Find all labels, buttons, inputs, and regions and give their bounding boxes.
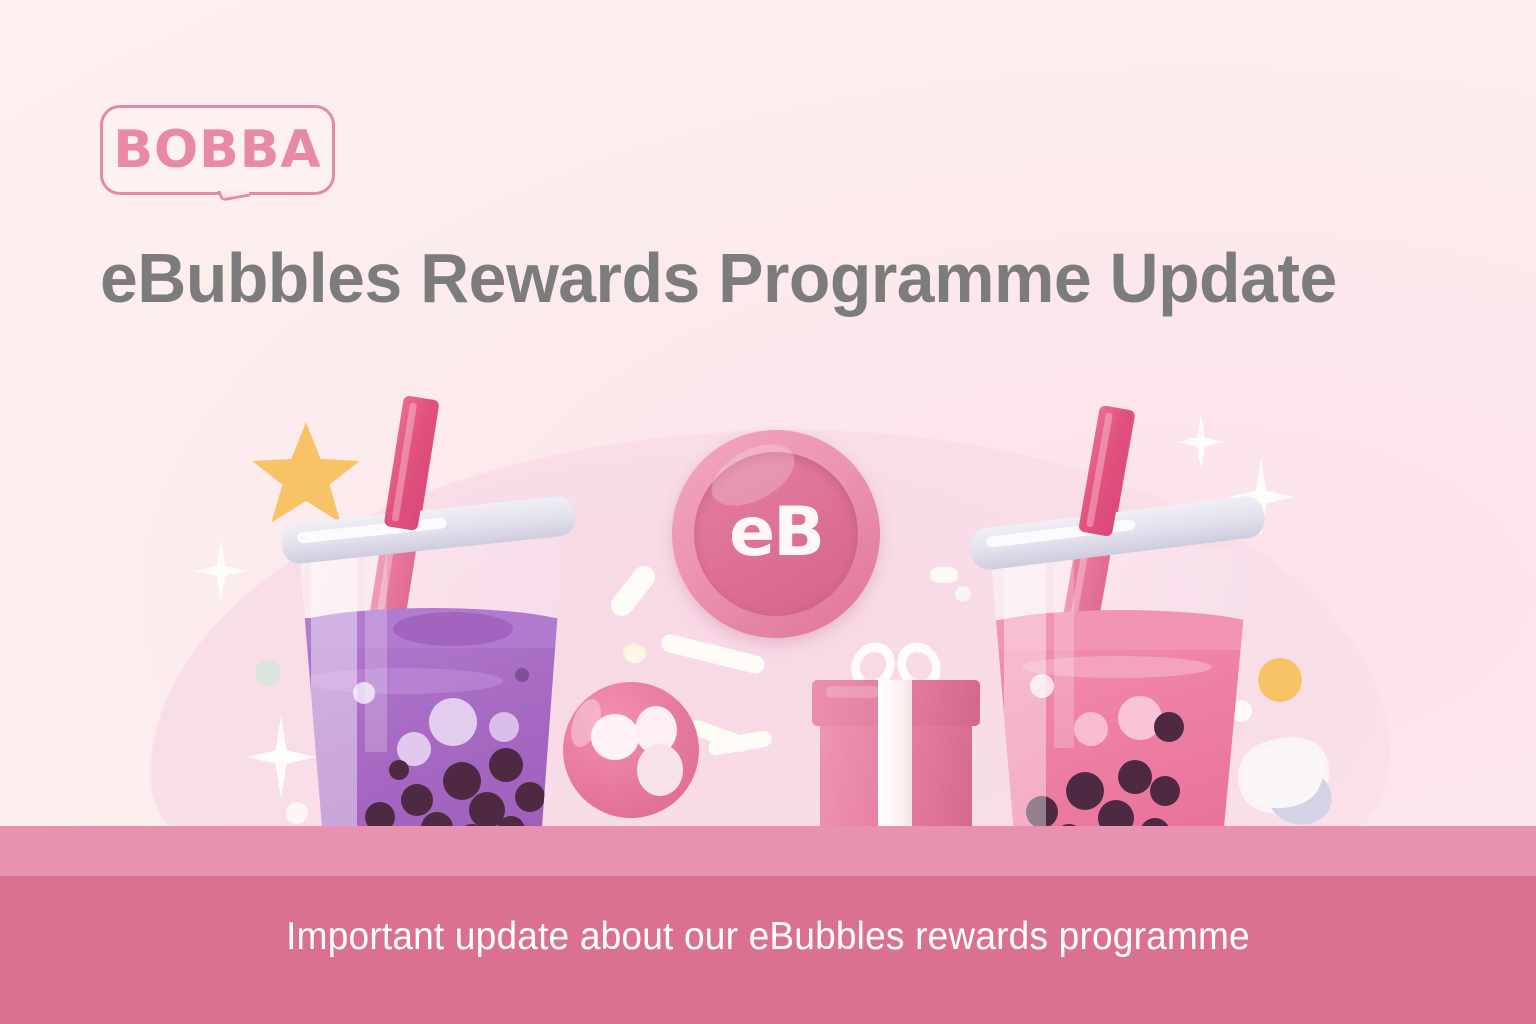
speech-bubble-tail-icon (212, 191, 252, 225)
brand-logo[interactable]: BOBBA (100, 105, 335, 195)
footer-band-light (0, 826, 1536, 876)
page-title: eBubbles Rewards Programme Update (100, 238, 1419, 318)
brand-logo-text: BOBBA (100, 105, 335, 195)
sparkle-icon (195, 540, 247, 602)
footer-subtitle: Important update about our eBubbles rewa… (38, 915, 1497, 959)
promo-banner: BOBBA eBubbles Rewards Programme Update (0, 0, 1536, 1024)
star-icon (250, 420, 362, 528)
sparkle-icon (1228, 458, 1294, 536)
sparkle-icon (1178, 414, 1224, 470)
